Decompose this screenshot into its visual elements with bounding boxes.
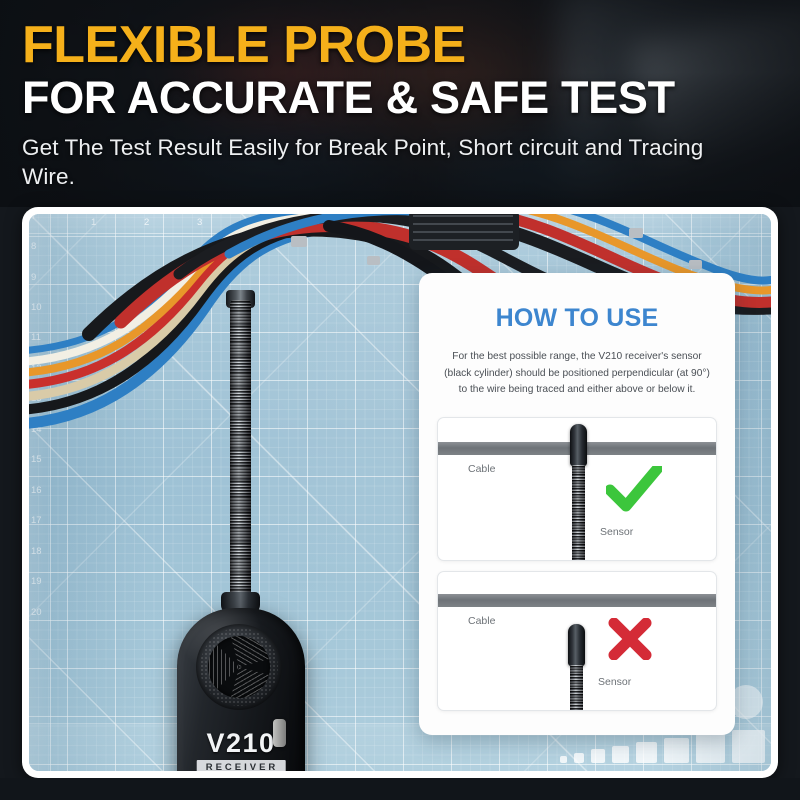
footer-background: [0, 778, 800, 800]
speaker-grille: [196, 624, 282, 710]
header-banner: FLEXIBLE PROBE FOR ACCURATE & SAFE TEST …: [0, 0, 800, 207]
sensor-gooseneck-stem: [572, 465, 585, 561]
cable-bar: [438, 594, 716, 607]
flexible-gooseneck: [230, 300, 251, 600]
v210-receiver-body: V210 RECEIVER: [177, 608, 305, 771]
title-block: FLEXIBLE PROBE FOR ACCURATE & SAFE TEST …: [22, 19, 778, 192]
sensor-cylinder-tip: [570, 424, 587, 466]
cross-icon: [608, 618, 652, 660]
check-icon: [606, 466, 662, 512]
product-photo: 1 2 3 4 5 6 7 7 8 9 10 11 12 13 14 15 16…: [29, 214, 771, 771]
sensor-label: Sensor: [598, 676, 631, 688]
device-side-button[interactable]: [273, 719, 286, 747]
headline-secondary: FOR ACCURATE & SAFE TEST: [22, 74, 778, 122]
product-photo-frame: 1 2 3 4 5 6 7 7 8 9 10 11 12 13 14 15 16…: [22, 207, 778, 778]
sensor-label: Sensor: [600, 526, 633, 538]
example-incorrect-placement: Cable Sensor: [437, 571, 717, 711]
cable-label: Cable: [468, 615, 495, 627]
example-correct-placement: Cable Sensor: [437, 417, 717, 561]
headline-primary: FLEXIBLE PROBE: [22, 19, 778, 71]
speaker-grille-inner: [208, 636, 270, 698]
how-to-use-card: HOW TO USE For the best possible range, …: [419, 273, 735, 735]
how-to-use-description: For the best possible range, the V210 re…: [433, 349, 721, 399]
sensor-cylinder-tip: [568, 624, 585, 666]
product-feature-graphic: FLEXIBLE PROBE FOR ACCURATE & SAFE TEST …: [0, 0, 800, 800]
cable-label: Cable: [468, 463, 495, 475]
sensor-gooseneck-stem: [570, 665, 583, 711]
device-model-badge: RECEIVER: [197, 760, 286, 771]
headline-subtitle: Get The Test Result Easily for Break Poi…: [22, 133, 738, 192]
v210-probe-assembly: V210 RECEIVER: [151, 274, 411, 771]
how-to-use-title: HOW TO USE: [433, 304, 721, 333]
